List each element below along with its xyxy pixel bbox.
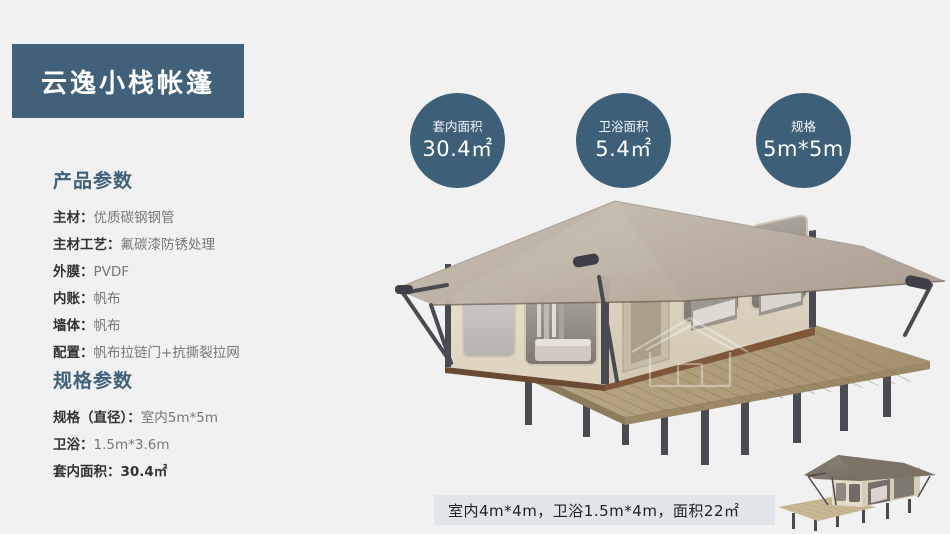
badge-dimensions: 规格 5m*5m	[756, 93, 851, 188]
badge-label: 卫浴面积	[598, 121, 648, 134]
spec-label: 外膜：	[53, 264, 94, 280]
spec-label: 配置：	[53, 345, 94, 361]
spec-label: 内账：	[53, 291, 94, 307]
section-heading-product: 产品参数	[53, 166, 240, 193]
spec-row: 外膜：PVDF	[53, 259, 240, 286]
spec-label: 套内面积：	[53, 464, 121, 480]
spec-value: 优质碳钢钢管	[94, 210, 175, 226]
spec-label: 主材：	[53, 210, 94, 226]
spec-label: 卫浴：	[53, 437, 94, 453]
spec-value: 氟碳漆防锈处理	[121, 237, 216, 253]
spec-value: 室内5m*5m	[141, 410, 218, 426]
spec-label: 规格（直径）：	[53, 410, 141, 426]
spec-value: 帆布	[94, 291, 121, 307]
spec-value: 30.4㎡	[121, 464, 168, 480]
spec-value: PVDF	[94, 264, 130, 280]
caption-text: 室内4m*4m，卫浴1.5m*4m，面积22㎡	[448, 500, 740, 521]
product-parameters-section: 产品参数 主材：优质碳钢钢管 主材工艺：氟碳漆防锈处理 外膜：PVDF 内账：帆…	[53, 166, 240, 367]
spec-row: 套内面积：30.4㎡	[53, 459, 218, 486]
spec-value: 1.5m*3.6m	[94, 437, 170, 453]
spec-row: 内账：帆布	[53, 286, 240, 313]
spec-value: 帆布拉链门+抗撕裂拉网	[94, 345, 240, 361]
title-banner: 云逸小栈帐篷	[12, 44, 244, 118]
badge-value: 5.4㎡	[595, 139, 651, 160]
badge-value: 30.4㎡	[422, 139, 492, 160]
badge-label: 套内面积	[432, 121, 482, 134]
spec-row: 主材工艺：氟碳漆防锈处理	[53, 232, 240, 259]
spec-row: 主材：优质碳钢钢管	[53, 205, 240, 232]
slide-root: 云逸小栈帐篷 产品参数 主材：优质碳钢钢管 主材工艺：氟碳漆防锈处理 外膜：PV…	[0, 0, 950, 534]
spec-value: 帆布	[94, 318, 121, 334]
badge-bathroom-area: 卫浴面积 5.4㎡	[576, 93, 671, 188]
spec-row: 配置：帆布拉链门+抗撕裂拉网	[53, 340, 240, 367]
badge-value: 5m*5m	[763, 139, 844, 160]
spec-row: 规格（直径）：室内5m*5m	[53, 405, 218, 432]
spec-row: 墙体：帆布	[53, 313, 240, 340]
badge-label: 规格	[791, 121, 816, 134]
image-caption: 室内4m*4m，卫浴1.5m*4m，面积22㎡	[434, 495, 775, 525]
spec-label: 墙体：	[53, 318, 94, 334]
specification-parameters-section: 规格参数 规格（直径）：室内5m*5m 卫浴：1.5m*3.6m 套内面积：30…	[53, 366, 218, 486]
section-heading-specification: 规格参数	[53, 366, 218, 393]
badge-interior-area: 套内面积 30.4㎡	[410, 93, 505, 188]
page-title: 云逸小栈帐篷	[41, 63, 215, 100]
spec-row: 卫浴：1.5m*3.6m	[53, 432, 218, 459]
spec-label: 主材工艺：	[53, 237, 121, 253]
tent-thumbnail-render	[770, 445, 946, 534]
